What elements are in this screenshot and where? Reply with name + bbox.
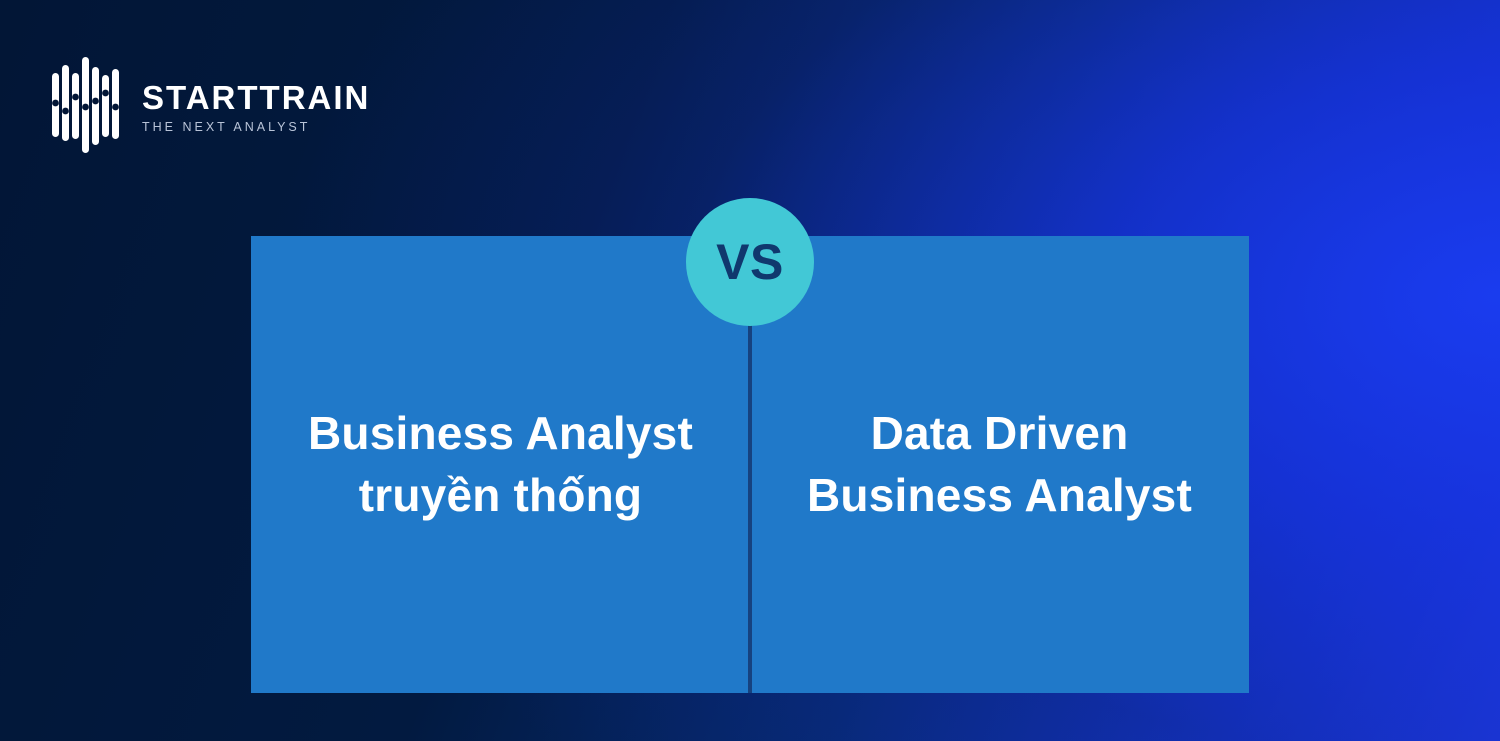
panel-divider bbox=[748, 300, 752, 693]
brand-wordmark: STARTTRAIN THE NEXT ANALYST bbox=[142, 77, 370, 134]
brand-tagline: THE NEXT ANALYST bbox=[142, 121, 370, 134]
left-side-title: Business Analyst truyền thống bbox=[297, 403, 704, 525]
brand-name: STARTTRAIN bbox=[142, 81, 370, 114]
right-side-title: Data Driven Business Analyst bbox=[796, 403, 1203, 525]
comparison-side-left: Business Analyst truyền thống bbox=[251, 236, 750, 693]
brand-logo: STARTTRAIN THE NEXT ANALYST bbox=[50, 55, 370, 155]
vs-badge: VS bbox=[686, 198, 814, 326]
comparison-side-right: Data Driven Business Analyst bbox=[750, 236, 1249, 693]
candlestick-chart-icon bbox=[50, 55, 128, 155]
vs-label: VS bbox=[716, 237, 784, 287]
slide-canvas: STARTTRAIN THE NEXT ANALYST Business Ana… bbox=[0, 0, 1500, 741]
